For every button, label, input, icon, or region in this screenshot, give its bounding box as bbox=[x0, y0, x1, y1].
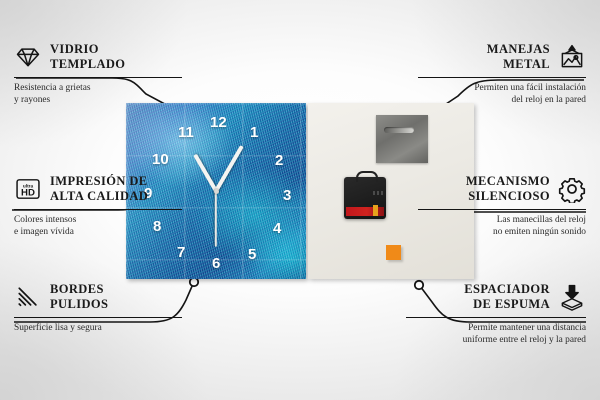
clock-numeral-6: 6 bbox=[212, 256, 220, 271]
metal-hanger-plate bbox=[376, 115, 428, 163]
callout-title-line1: MECANISMO bbox=[466, 174, 550, 189]
callout-title-line1: VIDRIO bbox=[50, 42, 125, 57]
callout-impresion-alta-calidad: ultra HD IMPRESIÓN DE ALTA CALIDAD Color… bbox=[14, 174, 182, 238]
callout-rule bbox=[14, 209, 182, 210]
callout-mecanismo-silencioso: MECANISMO SILENCIOSO Las manecillas del … bbox=[418, 174, 586, 238]
clock-numeral-4: 4 bbox=[273, 221, 281, 236]
callout-rule bbox=[406, 317, 586, 318]
callout-title-line2: SILENCIOSO bbox=[466, 189, 550, 204]
callout-title-line2: DE ESPUMA bbox=[464, 297, 550, 312]
callout-title-line2: TEMPLADO bbox=[50, 57, 125, 72]
marker-bordes bbox=[190, 278, 198, 286]
callout-rule bbox=[14, 77, 182, 78]
callout-subtitle-line1: Colores intensos bbox=[14, 214, 182, 226]
hanging-frame-icon bbox=[558, 43, 586, 71]
callout-subtitle-line1: Las manecillas del reloj bbox=[418, 214, 586, 226]
callout-vidrio-templado: VIDRIO TEMPLADO Resistencia a grietas y … bbox=[14, 42, 182, 106]
mechanism-hanging-loop bbox=[356, 171, 378, 182]
callout-rule bbox=[14, 317, 182, 318]
callout-espaciador-espuma: ESPACIADOR DE ESPUMA Permite mantener un… bbox=[406, 282, 586, 346]
clock-center-cap bbox=[214, 189, 219, 194]
gear-icon bbox=[558, 175, 586, 203]
clock-numeral-10: 10 bbox=[152, 152, 169, 167]
callout-title-line2: METAL bbox=[487, 57, 550, 72]
ultra-hd-large-text: HD bbox=[21, 188, 35, 199]
callout-subtitle-line2: uniforme entre el reloj y la pared bbox=[406, 334, 586, 346]
polished-edge-icon bbox=[14, 283, 42, 311]
callout-subtitle-line1: Superficie lisa y segura bbox=[14, 322, 182, 334]
clock-numeral-12: 12 bbox=[210, 115, 227, 130]
clock-numeral-11: 11 bbox=[178, 125, 194, 140]
callout-title-line2: ALTA CALIDAD bbox=[50, 189, 148, 204]
callout-subtitle-line1: Permiten una fácil instalación bbox=[418, 82, 586, 94]
callout-title-line2: PULIDOS bbox=[50, 297, 108, 312]
clock-numeral-3: 3 bbox=[283, 188, 291, 203]
hanger-slot bbox=[384, 127, 414, 133]
clock-second-hand bbox=[215, 191, 217, 247]
foam-spacer-icon bbox=[558, 283, 586, 311]
callout-title-line1: BORDES bbox=[50, 282, 108, 297]
callout-subtitle-line2: del reloj en la pared bbox=[418, 94, 586, 106]
clock-numeral-1: 1 bbox=[250, 125, 258, 140]
clock-numeral-7: 7 bbox=[177, 245, 185, 260]
callout-bordes-pulidos: BORDES PULIDOS Superficie lisa y segura bbox=[14, 282, 182, 334]
callout-manejas-metal: MANEJAS METAL Permiten una fácil instala… bbox=[418, 42, 586, 106]
clock-mechanism-box bbox=[344, 177, 386, 219]
callout-title-line1: IMPRESIÓN DE bbox=[50, 174, 148, 189]
callout-subtitle-line2: y rayones bbox=[14, 94, 182, 106]
foam-spacer-pad bbox=[386, 245, 401, 260]
callout-subtitle-line1: Resistencia a grietas bbox=[14, 82, 182, 94]
ultra-hd-icon: ultra HD bbox=[14, 175, 42, 203]
mechanism-detail bbox=[373, 191, 383, 195]
mechanism-battery-label bbox=[346, 207, 384, 216]
callout-subtitle-line2: e imagen vívida bbox=[14, 226, 182, 238]
callout-subtitle-line2: no emiten ningún sonido bbox=[418, 226, 586, 238]
callout-subtitle-line1: Permite mantener una distancia bbox=[406, 322, 586, 334]
infographic-canvas: 12 1 2 3 4 5 6 7 8 9 10 11 bbox=[0, 0, 600, 400]
diamond-icon bbox=[14, 43, 42, 71]
callout-title-line1: MANEJAS bbox=[487, 42, 550, 57]
clock-numeral-2: 2 bbox=[275, 153, 283, 168]
callout-title-line1: ESPACIADOR bbox=[464, 282, 550, 297]
callout-rule bbox=[418, 77, 586, 78]
callout-rule bbox=[418, 209, 586, 210]
clock-numeral-5: 5 bbox=[248, 247, 256, 262]
